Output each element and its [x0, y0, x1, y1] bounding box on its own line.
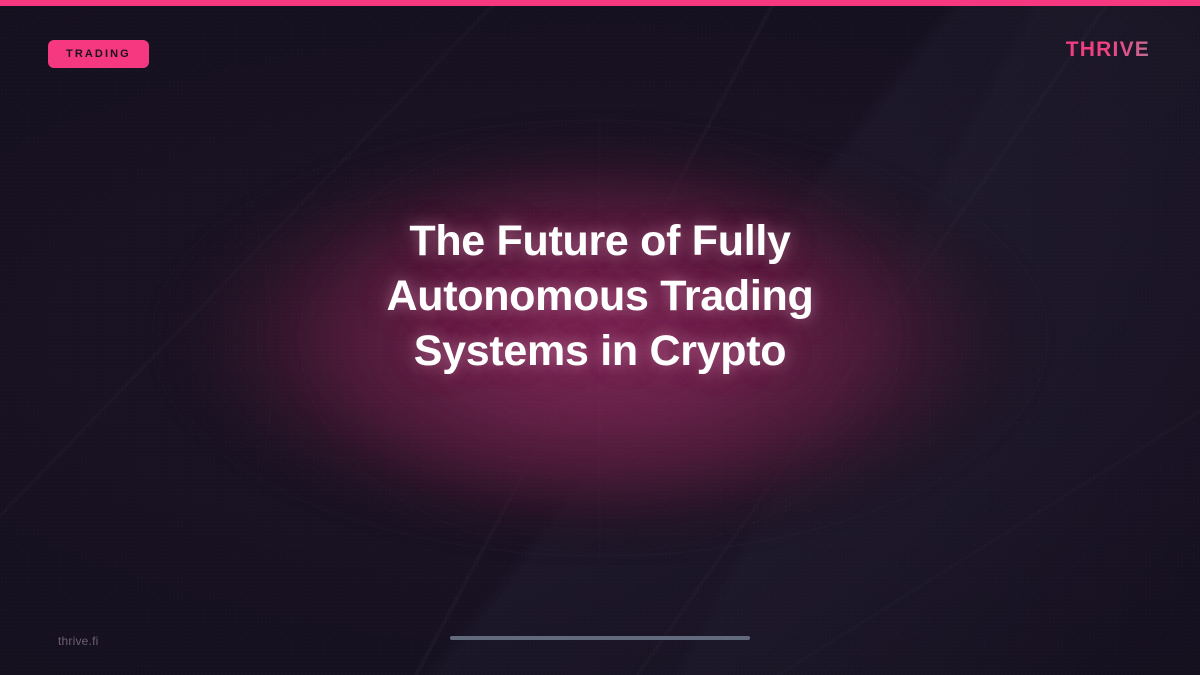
top-accent-bar: [0, 0, 1200, 6]
title-line-3: Systems in Crypto: [414, 324, 786, 379]
brand-logo: THRIVE: [1066, 38, 1150, 62]
presentation-slide: TRADING THRIVE The Future of Fully Auton…: [0, 0, 1200, 675]
category-badge: TRADING: [48, 40, 149, 68]
title-line-1: The Future of Fully: [409, 214, 790, 269]
slide-progress-fill: [450, 636, 750, 640]
slide-progress-bar[interactable]: [450, 636, 750, 640]
slide-title: The Future of Fully Autonomous Trading S…: [0, 214, 1200, 379]
title-line-2: Autonomous Trading: [387, 269, 814, 324]
footer-website-url: thrive.fi: [58, 634, 98, 648]
